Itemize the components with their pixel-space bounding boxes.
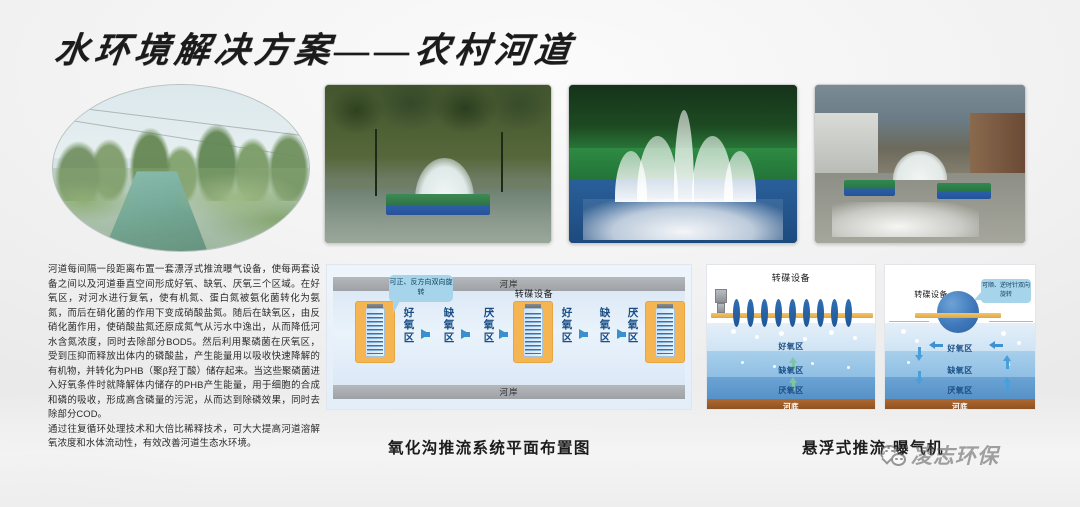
rotor-disc-unit	[513, 301, 553, 363]
bubble	[731, 329, 736, 334]
rotor-disc-unit	[645, 301, 685, 363]
section-panel-disc-aerator: 转碟设备 好氧区	[706, 264, 876, 410]
caption-oxidation-ditch-plan: 氧化沟推流系统平面布置图	[388, 436, 591, 458]
flow-arrow-up	[1003, 377, 1011, 383]
flow-arrow	[579, 329, 588, 339]
floating-platform	[844, 180, 894, 196]
rotor-disc	[817, 299, 824, 327]
zone-label-aerobic-1: 好氧区	[403, 307, 415, 344]
rotor-disc	[845, 299, 852, 327]
wechat-eye	[885, 450, 888, 453]
wechat-bubble-small	[891, 453, 906, 466]
layer-label-anoxic: 缺氧区	[707, 365, 875, 376]
zone-label-anaerobic-2: 厌氧区	[627, 307, 639, 344]
wechat-icon	[880, 445, 906, 466]
rotor-disc	[761, 299, 768, 327]
photo-floating-aerator-river	[324, 84, 552, 244]
description-paragraph-1: 河道每间隔一段距离布置一套漂浮式推流曝气设备，使每两套设备之间以及河道垂直空间形…	[48, 262, 320, 422]
rotor-disc-stack	[655, 308, 675, 357]
support-pole	[375, 129, 377, 195]
floating-platform	[937, 183, 992, 199]
layer-label-anaerobic: 厌氧区	[707, 385, 875, 396]
rotor-disc	[775, 299, 782, 327]
zone-label-aerobic-2: 好氧区	[561, 307, 573, 344]
water-foam	[832, 202, 979, 237]
description-text-block: 河道每间隔一段距离布置一套漂浮式推流曝气设备，使每两套设备之间以及河道垂直空间形…	[48, 262, 320, 451]
riverbank-label-bottom: 河岸	[333, 385, 685, 399]
water-surface-line	[989, 321, 1033, 322]
drive-motor	[715, 289, 727, 303]
flow-arrow	[617, 329, 626, 339]
bubble	[1001, 331, 1006, 336]
callout-rotation-direction: 可正、反方向双向旋转	[389, 275, 453, 302]
rotor-disc	[803, 299, 810, 327]
motor-base	[717, 303, 725, 313]
layer-label-aerobic: 好氧区	[885, 343, 1035, 354]
photo-rural-river-landscape	[52, 84, 310, 252]
page-title-text: 水环境解决方案——农村河道	[52, 22, 578, 73]
wechat-eye	[895, 458, 898, 461]
callout-tail	[974, 291, 982, 300]
rotor-disc	[789, 299, 796, 327]
rotor-disc-stack	[523, 308, 543, 357]
rotor-shaft	[915, 313, 1001, 318]
flow-arrow	[461, 329, 470, 339]
flow-arrow-up	[1003, 355, 1011, 361]
flow-arrow-up	[789, 357, 797, 363]
rotor-disc	[747, 299, 754, 327]
wechat-eye	[900, 458, 903, 461]
diagram-suspended-aerator-section: 转碟设备 好氧区	[706, 264, 1036, 410]
rotor-disc-stack	[365, 308, 385, 357]
bubble	[779, 331, 784, 336]
rotor-equipment-label: 转碟设备	[707, 271, 875, 284]
wechat-eye	[891, 450, 894, 453]
rotating-sphere	[937, 291, 979, 333]
flow-arrow-up	[789, 377, 797, 383]
poster-page: 水环境解决方案——农村河道	[0, 0, 1080, 507]
zone-label-anoxic-2: 缺氧区	[599, 307, 611, 344]
callout-text: 可顺、逆时针双向旋转	[982, 283, 1030, 298]
page-title: 水环境解决方案——农村河道	[55, 22, 575, 74]
description-paragraph-2: 通过往复循环处理技术和大倍比稀释技术，可大大提高河道溶解氧浓度和水体流动性，有效…	[48, 422, 320, 451]
flow-arrow-down	[915, 355, 923, 361]
callout-text: 可正、反方向双向旋转	[390, 279, 453, 296]
photo-fountain-aerator	[568, 84, 798, 244]
bubble	[907, 361, 910, 364]
support-pole	[501, 132, 503, 192]
zone-label-anaerobic-1: 厌氧区	[483, 307, 495, 344]
callout-rotation-direction: 可顺、逆时针双向旋转	[981, 279, 1031, 303]
diagram-oxidation-ditch-plan: 河岸 河岸 好氧区 缺氧区 厌氧区 好氧区 缺氧区 厌氧区 转碟设备	[326, 264, 692, 410]
bubble	[755, 335, 759, 339]
water-foam	[583, 199, 784, 240]
rotor-equipment-label: 转碟设备	[493, 287, 575, 300]
watermark-text: 凌志环保	[911, 440, 999, 470]
layer-label-riverbed: 河底	[707, 401, 875, 410]
floating-platform	[386, 194, 490, 215]
section-panel-sphere-aerator: 转碟设备 可顺、逆时针双向旋转 好氧区 缺氧区 厌氧区	[884, 264, 1036, 410]
bubble	[853, 336, 857, 340]
watermark: 凌志环保	[880, 440, 999, 470]
layer-label-anoxic: 缺氧区	[885, 365, 1035, 376]
bubble	[829, 330, 834, 335]
photo-riverbank-vegetation	[53, 168, 309, 251]
rotor-disc	[733, 299, 740, 327]
layer-label-aerobic: 好氧区	[707, 341, 875, 352]
layer-label-anaerobic: 厌氧区	[885, 385, 1035, 396]
layer-label-riverbed: 河底	[885, 401, 1035, 410]
rotor-disc	[831, 299, 838, 327]
flow-arrow	[421, 329, 430, 339]
zone-label-anoxic-1: 缺氧区	[443, 307, 455, 344]
rotor-disc-unit	[355, 301, 395, 363]
photo-brush-aerator-canal	[814, 84, 1026, 244]
flow-arrow	[499, 329, 508, 339]
callout-tail	[393, 301, 400, 314]
water-surface-line	[889, 321, 929, 322]
bubble	[741, 361, 744, 364]
bubble	[901, 329, 906, 334]
